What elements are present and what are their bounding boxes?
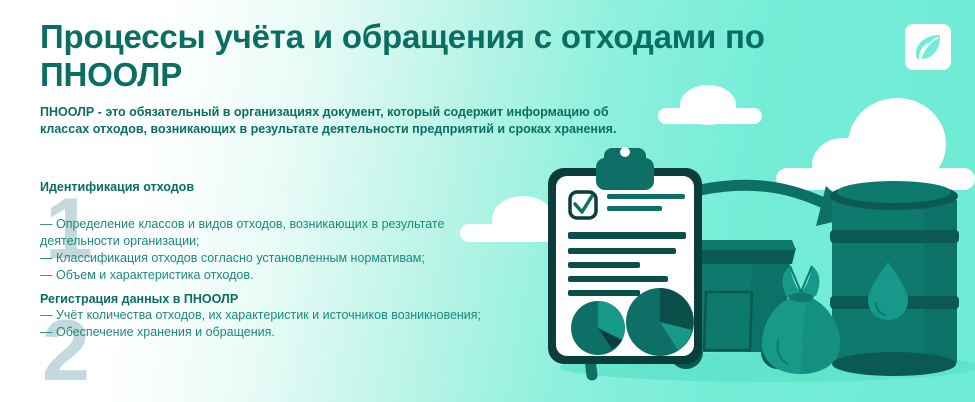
section-2-heading: Регистрация данных в ПНООЛР [40, 292, 560, 306]
waste-barrel [830, 181, 959, 376]
section-1: 1 Идентификация отходов — Определение кл… [40, 180, 510, 284]
section-2-body: — Учёт количества отходов, их характерис… [40, 307, 560, 341]
eco-leaf-logo[interactable] [905, 24, 951, 70]
page-title: Процессы учёта и обращения с отходами по… [40, 18, 870, 94]
infographic-canvas: Процессы учёта и обращения с отходами по… [0, 0, 975, 402]
section-1-body: — Определение классов и видов отходов, в… [40, 216, 510, 284]
pie-chart-large [626, 288, 694, 356]
pie-chart-small [571, 301, 625, 355]
ground-shadow [560, 352, 975, 382]
droplet-icon [868, 262, 908, 320]
curved-arrow [590, 185, 858, 375]
section-2: 2 Регистрация данных в ПНООЛР — Учёт кол… [40, 292, 560, 341]
page-subtitle: ПНООЛР - это обязательный в организациях… [40, 104, 640, 138]
wheeled-waste-bin [666, 240, 796, 369]
leaf-icon [913, 32, 943, 62]
section-1-heading: Идентификация отходов [40, 180, 510, 194]
clipboard-document [548, 147, 702, 364]
checked-checkbox [570, 192, 596, 218]
